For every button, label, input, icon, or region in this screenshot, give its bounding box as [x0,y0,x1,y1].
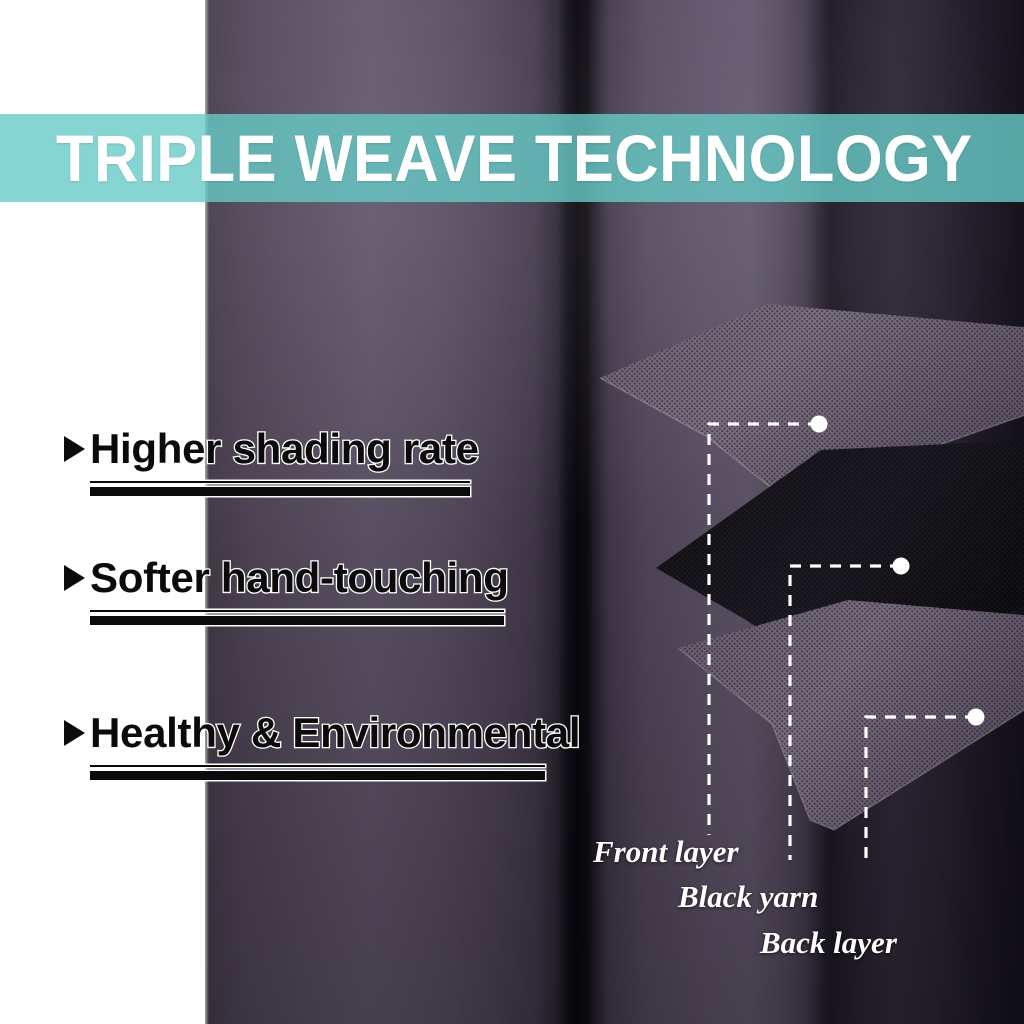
callout-dot-yarn [893,558,910,575]
layer-diagram [596,300,1024,860]
feature-item-2: Softer hand-touching [64,557,509,625]
feature-label-2: Softer hand-touching [90,557,509,599]
underline-thin-rule [90,610,504,612]
triangle-right-icon [64,720,85,746]
feature-underline-3 [90,765,545,780]
layer-label-back: Back layer [760,927,897,958]
feature-item-3: Healthy & Environmental [64,712,580,780]
feature-label-1: Higher shading rate [90,428,479,470]
headline-banner: TRIPLE WEAVE TECHNOLOGY [0,114,1024,202]
underline-thin-rule [90,481,470,483]
triangle-right-icon [64,565,85,591]
feature-underline-1 [90,481,470,496]
callout-dot-back [968,709,985,726]
underline-thin-rule [90,765,545,767]
layer-label-front: Front layer [593,836,739,867]
callout-dot-front [811,416,828,433]
feature-label-3: Healthy & Environmental [90,712,580,754]
headline-title: TRIPLE WEAVE TECHNOLOGY [56,125,973,191]
underline-thick-rule [90,771,545,780]
feature-underline-2 [90,610,504,625]
underline-thick-rule [90,487,470,496]
underline-thick-rule [90,616,504,625]
layer-label-black-yarn: Black yarn [678,881,818,912]
infographic-canvas: TRIPLE WEAVE TECHNOLOGY Higher shading r… [0,0,1024,1024]
triangle-right-icon [64,436,85,462]
feature-item-1: Higher shading rate [64,428,479,496]
